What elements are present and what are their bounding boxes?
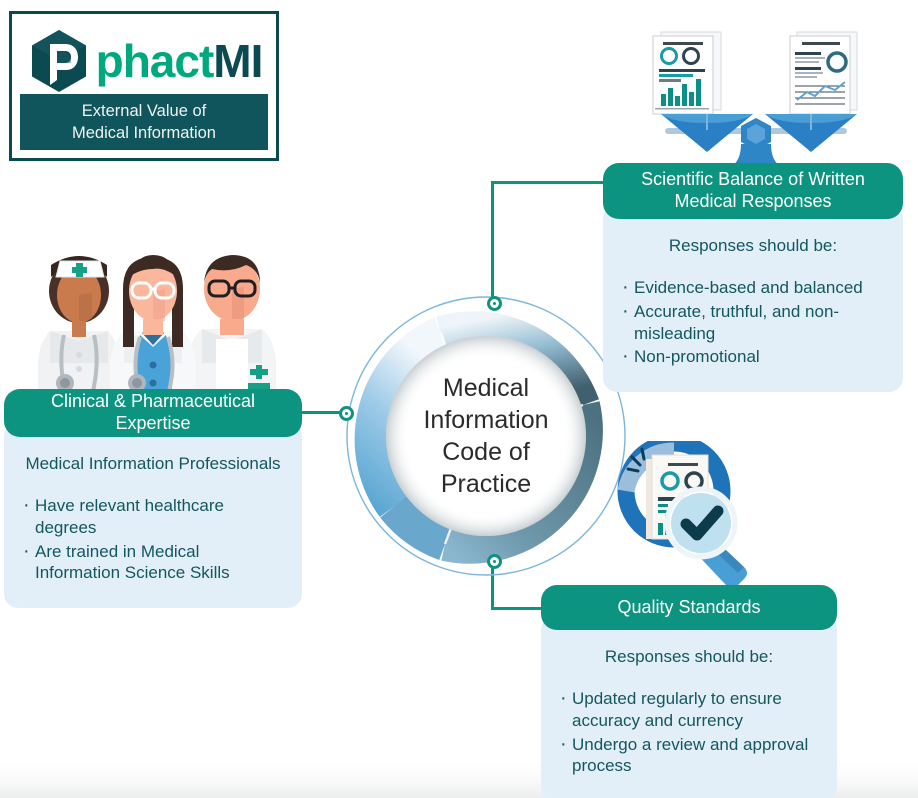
logo-caption: External Value of Medical Information: [20, 94, 268, 150]
panel-expertise-lead: Medical Information Professionals: [22, 453, 284, 475]
list-item: Accurate, truthful, and non-misleading: [621, 301, 885, 345]
panel-scientific-balance: Scientific Balance of Written Medical Re…: [603, 163, 903, 392]
center-line-2: Information: [396, 404, 576, 436]
balance-scale-documents-icon: [645, 22, 867, 168]
list-item: Evidence-based and balanced: [621, 277, 885, 299]
panel-expertise-title: Clinical & Pharmaceutical Expertise: [4, 389, 302, 437]
panel-scientific-body: Responses should be: Evidence-based and …: [603, 205, 903, 392]
panel-expertise-body: Medical Information Professionals Have r…: [4, 423, 302, 608]
list-item: Are trained in Medical Information Scien…: [22, 541, 284, 585]
logo-box: phactMI External Value of Medical Inform…: [9, 11, 279, 161]
connector-dot-top: [487, 296, 502, 311]
center-line-3: Code of: [396, 436, 576, 468]
logo-wordmark: phactMI: [96, 38, 263, 84]
panel-quality-title: Quality Standards: [541, 585, 837, 630]
infographic-canvas: phactMI External Value of Medical Inform…: [0, 0, 918, 798]
list-item: Updated regularly to ensure accuracy and…: [559, 688, 819, 732]
center-ring-label: Medical Information Code of Practice: [396, 372, 576, 500]
panel-quality-lead: Responses should be:: [559, 646, 819, 668]
panel-scientific-bullets: Evidence-based and balanced Accurate, tr…: [621, 277, 885, 368]
list-item: Undergo a review and approval process: [559, 734, 819, 778]
logo-word-mi: MI: [213, 35, 262, 87]
connector-top-horizontal: [491, 181, 609, 184]
center-ring: Medical Information Code of Practice: [345, 295, 627, 577]
panel-scientific-title: Scientific Balance of Written Medical Re…: [603, 163, 903, 219]
panel-expertise-bullets: Have relevant healthcare degrees Are tra…: [22, 495, 284, 584]
magnifier-document-check-icon: [596, 441, 774, 593]
connector-dot-left: [339, 406, 354, 421]
panel-scientific-lead: Responses should be:: [621, 235, 885, 257]
connector-top-vertical: [491, 181, 494, 303]
connector-dot-bottom: [487, 554, 502, 569]
center-line-4: Practice: [396, 468, 576, 500]
phactmi-hexagon-p-logo-icon: [26, 28, 92, 94]
logo-lockup: phactMI: [12, 20, 276, 102]
logo-caption-line-2: Medical Information: [72, 122, 216, 144]
panel-quality-standards: Quality Standards Responses should be: U…: [541, 585, 837, 798]
logo-caption-line-1: External Value of: [82, 100, 206, 122]
panel-clinical-expertise: Clinical & Pharmaceutical Expertise Medi…: [4, 389, 302, 608]
panel-quality-bullets: Updated regularly to ensure accuracy and…: [559, 688, 819, 777]
panel-quality-body: Responses should be: Updated regularly t…: [541, 616, 837, 798]
list-item: Non-promotional: [621, 346, 885, 368]
list-item: Have relevant healthcare degrees: [22, 495, 284, 539]
center-line-1: Medical: [396, 372, 576, 404]
logo-word-phact: phact: [96, 35, 214, 87]
healthcare-professionals-icon: [24, 243, 282, 395]
